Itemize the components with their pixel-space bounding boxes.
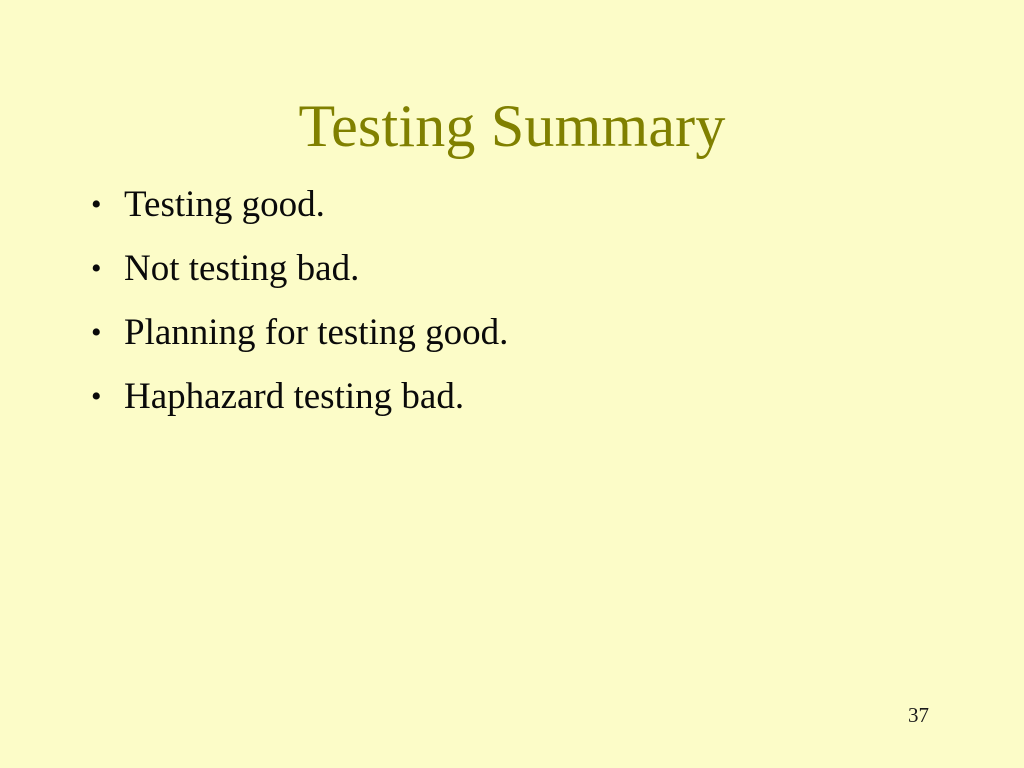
slide-canvas: Testing Summary • Testing good. • Not te… xyxy=(0,0,1024,768)
bullet-list: • Testing good. • Not testing bad. • Pla… xyxy=(88,182,968,438)
list-item: • Haphazard testing bad. xyxy=(88,374,968,438)
bullet-dot-icon: • xyxy=(91,246,111,292)
list-item: • Testing good. xyxy=(88,182,968,246)
slide-page-number: 37 xyxy=(908,703,956,728)
bullet-dot-icon: • xyxy=(91,374,111,420)
list-item: • Not testing bad. xyxy=(88,246,968,310)
list-item-label: Haphazard testing bad. xyxy=(124,374,464,420)
list-item-label: Testing good. xyxy=(124,182,325,228)
list-item-label: Planning for testing good. xyxy=(124,310,508,356)
bullet-dot-icon: • xyxy=(91,310,111,356)
list-item-label: Not testing bad. xyxy=(124,246,359,292)
page-title: Testing Summary xyxy=(0,96,1024,156)
bullet-dot-icon: • xyxy=(91,182,111,228)
list-item: • Planning for testing good. xyxy=(88,310,968,374)
